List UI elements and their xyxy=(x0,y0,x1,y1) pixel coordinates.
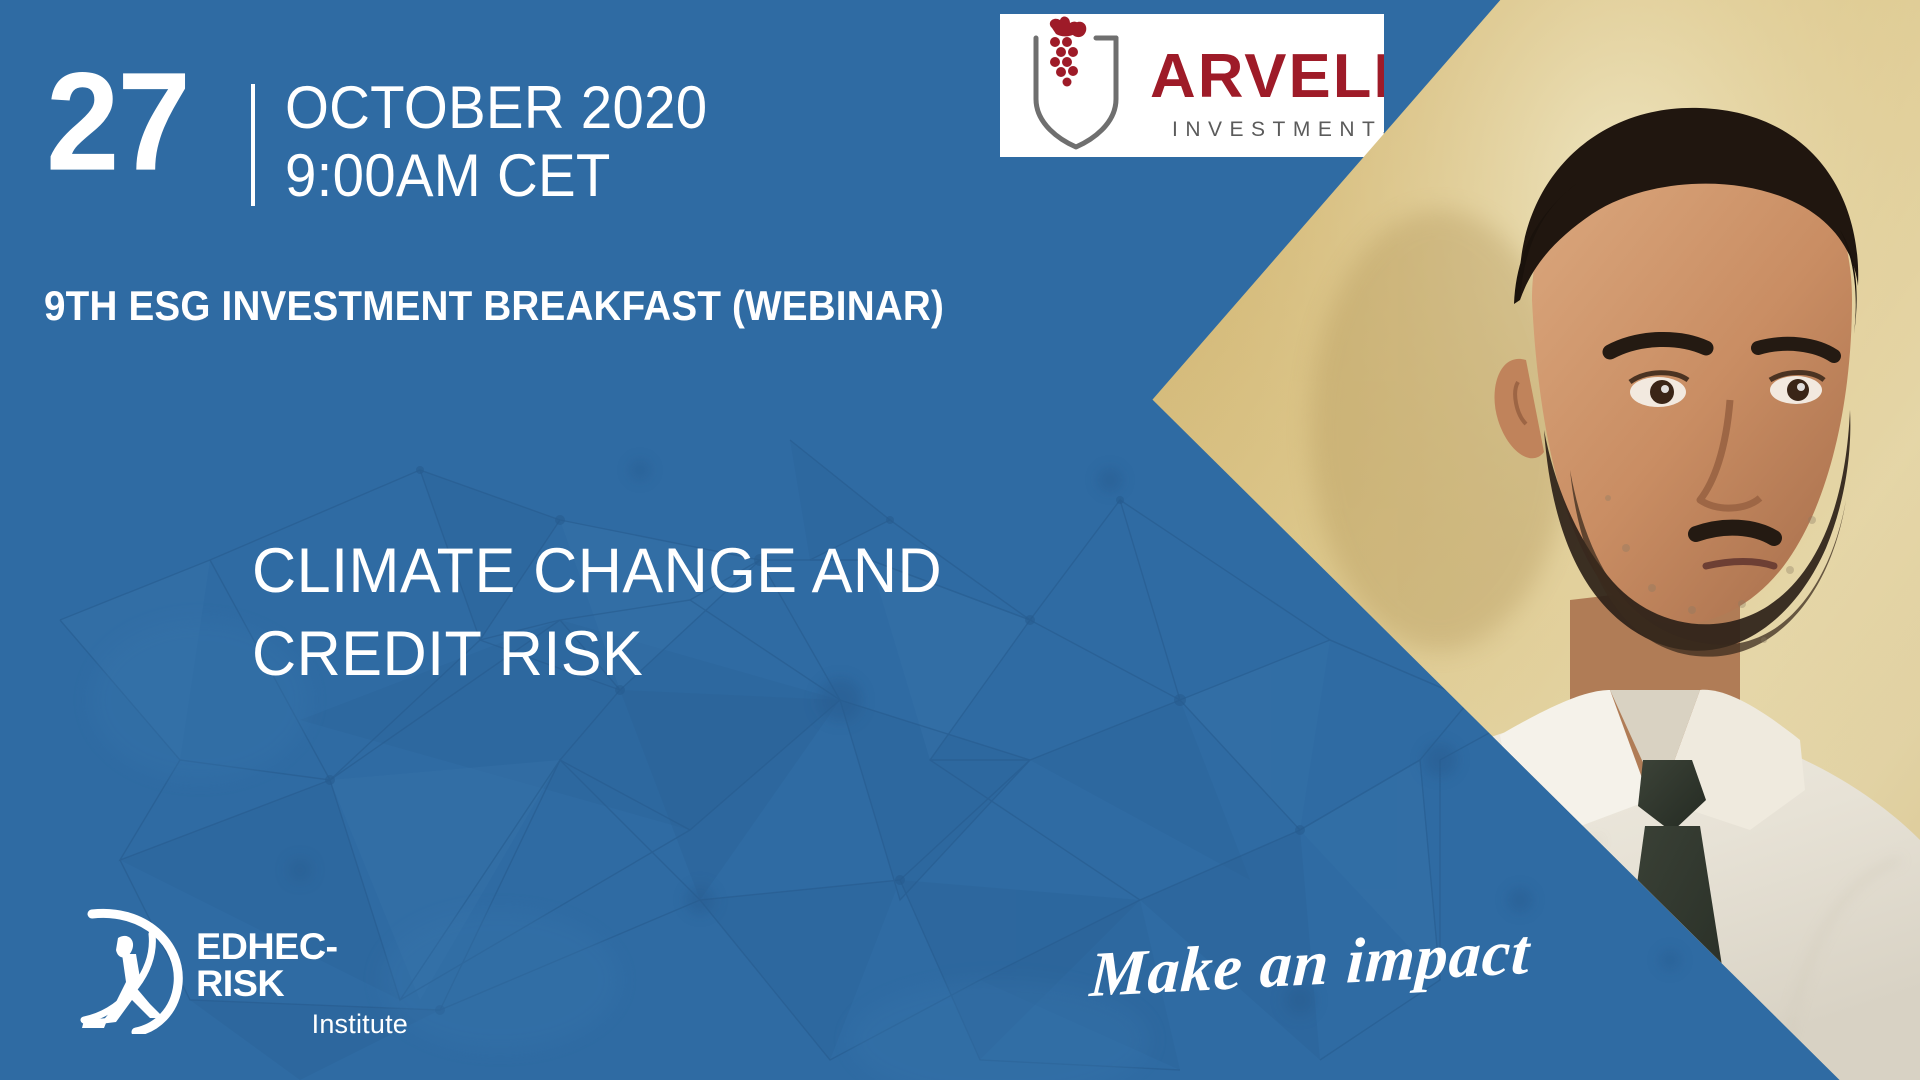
edhec-logo-name: EDHEC-RISK xyxy=(196,928,412,1002)
tagline: Make an impact xyxy=(1090,938,1560,1058)
edhec-logo-institute: Institute xyxy=(196,1011,408,1038)
edhec-logo-text: EDHEC-RISK Institute xyxy=(196,928,408,1038)
date-time-lines: OCTOBER 2020 9:00AM CET xyxy=(285,74,734,211)
tagline-text: Make an impact xyxy=(1088,913,1561,1012)
page-title: CLIMATE CHANGE AND CREDIT RISK xyxy=(252,530,963,696)
arvella-logo: ARVELLA INVESTMENTS xyxy=(1000,14,1384,157)
date-divider xyxy=(251,84,255,206)
arvella-subtitle: INVESTMENTS xyxy=(1172,118,1384,142)
edhec-risk-institute-logo: EDHEC-RISK Institute xyxy=(78,908,408,1040)
event-series-label: 9TH ESG INVESTMENT BREAKFAST (WEBINAR) xyxy=(44,282,944,330)
edhec-runner-arc-icon xyxy=(78,908,190,1034)
day-number: 27 xyxy=(46,52,189,192)
date-time: 9:00AM CET xyxy=(285,142,707,210)
title-line-1: CLIMATE CHANGE AND xyxy=(252,530,942,613)
date-month-year: OCTOBER 2020 xyxy=(285,74,707,142)
webinar-announcement-poster: 27 OCTOBER 2020 9:00AM CET 9TH ESG INVES… xyxy=(0,0,1920,1080)
event-date-block: 27 OCTOBER 2020 9:00AM CET xyxy=(46,52,734,211)
arvella-wordmark: ARVELLA xyxy=(1150,46,1384,108)
title-line-2: CREDIT RISK xyxy=(252,613,942,696)
